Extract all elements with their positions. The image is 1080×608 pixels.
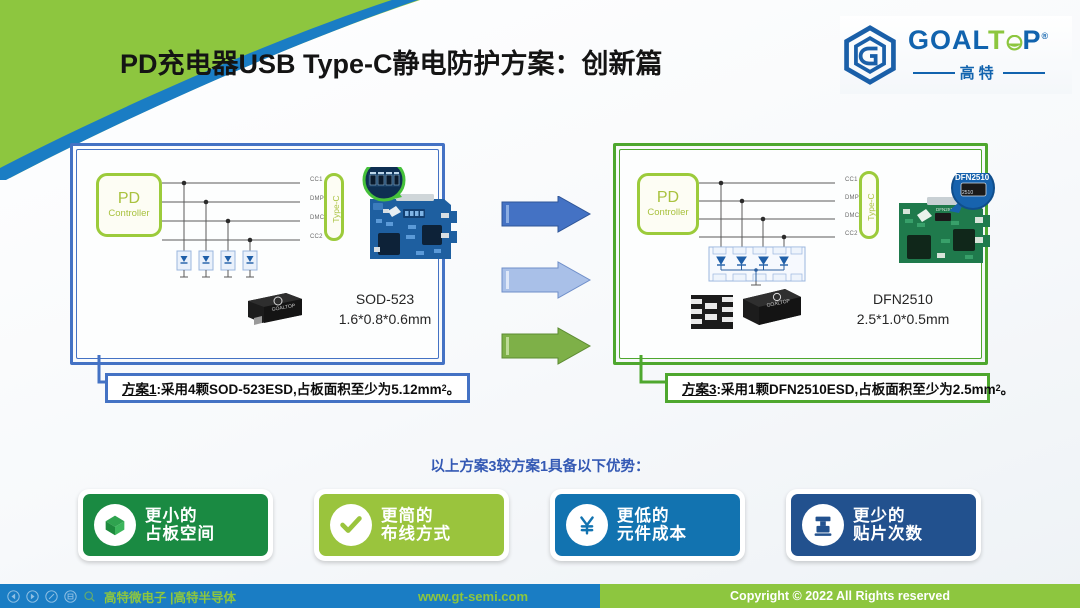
pcb-photo-green: DFN2510 2510 DFN2510 — [891, 173, 1001, 273]
prev-icon[interactable] — [7, 590, 20, 603]
solution-1-panel: PD Controller — [70, 143, 445, 365]
grid-icon[interactable] — [64, 590, 77, 603]
caption-suffix-right: 。 — [1001, 378, 1015, 398]
solution-3-caption: 方案3:采用1颗DFN2510ESD,占板面积至少为2.5mm2。 — [665, 373, 990, 403]
caption-body-right: :采用1颗DFN2510ESD,占板面积至少为2.5mm — [717, 378, 996, 398]
advantage-line-2: 贴片次数 — [853, 525, 923, 543]
pd-controller-subtitle: Controller — [647, 208, 688, 219]
pd-controller-title: PD — [118, 190, 140, 208]
schematic-wiring-left — [162, 169, 322, 279]
net-label-dmp-right: DMP — [845, 195, 859, 201]
logo-rule-right — [1003, 72, 1045, 74]
yuan-icon — [566, 504, 608, 546]
pd-controller-title: PD — [657, 189, 679, 207]
type-c-label: Type-C — [866, 184, 876, 230]
type-c-label: Type-C — [331, 186, 341, 232]
caption-prefix-left: 方案1 — [122, 378, 157, 398]
advantage-card-text: 更少的 贴片次数 — [853, 507, 923, 544]
advantage-card-fewer-smt[interactable]: 更少的 贴片次数 — [786, 489, 981, 561]
advantage-line-2: 元件成本 — [617, 525, 687, 543]
advantage-line-1: 更小的 — [145, 507, 215, 525]
play-icon[interactable] — [26, 590, 39, 603]
footer-bar: 高特微电子 |高特半导体 www.gt-semi.com Copyright ©… — [0, 584, 1080, 608]
logo-wordmark: GOALT P® — [908, 27, 1049, 57]
transition-arrows — [498, 196, 598, 376]
advantages-heading: 以上方案3较方案1具备以下优势： — [0, 455, 1080, 476]
advantage-card-lower-cost[interactable]: 更低的 元件成本 — [550, 489, 745, 561]
logo-registered-mark: ® — [1042, 31, 1050, 41]
advantage-line-1: 更低的 — [617, 507, 687, 525]
net-label-cc1-right: CC1 — [845, 177, 858, 183]
package-dimensions-right: 2.5*1.0*0.5mm — [838, 311, 968, 327]
pen-icon[interactable] — [45, 590, 58, 603]
solution-3-panel: PD Controller — [613, 143, 988, 365]
footer-brand-text: 高特微电子 |高特半导体 — [104, 587, 236, 606]
advantage-line-1: 更简的 — [381, 507, 451, 525]
logo-swoosh-icon — [1006, 30, 1023, 57]
net-label-cc2-right: CC2 — [845, 231, 858, 237]
logo-word-goal: GOAL — [908, 25, 988, 55]
solution-1-caption: 方案1:采用4颗SOD-523ESD,占板面积至少为5.12mm2。 — [105, 373, 470, 403]
advantage-card-smaller-footprint[interactable]: 更小的 占板空间 — [78, 489, 273, 561]
advantage-card-text: 更简的 布线方式 — [381, 507, 451, 544]
package-dimensions-left: 1.6*0.8*0.6mm — [325, 311, 445, 327]
advantage-cards: 更小的 占板空间 更简的 布线方式 — [78, 489, 1008, 569]
advantage-card-text: 更低的 元件成本 — [617, 507, 687, 544]
svg-text:2510: 2510 — [962, 190, 973, 196]
smt-machine-icon — [802, 504, 844, 546]
footer-copyright: Copyright © 2022 All Rights reserved — [600, 584, 1080, 608]
arrow-transition-2 — [502, 262, 590, 298]
pd-controller-subtitle: Controller — [108, 209, 149, 220]
advantage-line-2: 布线方式 — [381, 525, 451, 543]
advantage-card-text: 更小的 占板空间 — [145, 507, 215, 544]
package-name-right: DFN2510 — [838, 291, 968, 307]
package-photo-sod523: GOALTOP — [240, 285, 308, 331]
net-label-cc2-left: CC2 — [310, 234, 323, 240]
type-c-connector-right: Type-C — [859, 171, 879, 239]
advantage-line-1: 更少的 — [853, 507, 923, 525]
pd-controller-block-right: PD Controller — [637, 173, 699, 235]
brand-logo: GOALT P® 高特 — [840, 16, 1072, 94]
pd-controller-block-left: PD Controller — [96, 173, 162, 237]
net-label-dmc-right: DMC — [845, 213, 859, 219]
logo-rule-left — [913, 72, 955, 74]
caption-prefix-right: 方案3 — [682, 378, 717, 398]
advantage-card-simpler-routing[interactable]: 更简的 布线方式 — [314, 489, 509, 561]
logo-word-t: T — [988, 25, 1006, 55]
type-c-connector-left: Type-C — [324, 173, 344, 241]
logo-word-p: P — [1023, 25, 1042, 55]
package-photo-dfn2510: GOALTOP — [685, 283, 805, 335]
svg-text:DFN2510: DFN2510 — [955, 173, 990, 182]
advantage-line-2: 占板空间 — [145, 525, 215, 543]
zoom-icon[interactable] — [83, 590, 96, 603]
page-title: PD充电器USB Type-C静电防护方案：创新篇 — [120, 42, 820, 81]
logo-chinese-row: 高特 — [913, 62, 1045, 83]
schematic-wiring-right — [699, 169, 859, 287]
arrow-transition-3 — [502, 328, 590, 364]
slide-canvas: PD充电器USB Type-C静电防护方案：创新篇 GOALT P® 高特 — [0, 0, 1080, 608]
net-label-dmp-left: DMP — [310, 196, 324, 202]
footer-website-url[interactable]: www.gt-semi.com — [418, 584, 528, 608]
caption-body-left: :采用4颗SOD-523ESD,占板面积至少为5.12mm — [157, 378, 442, 398]
logo-chinese-name: 高特 — [960, 62, 998, 83]
net-label-dmc-left: DMC — [310, 215, 324, 221]
net-label-cc1-left: CC1 — [310, 177, 323, 183]
pcb-photo-blue — [356, 167, 466, 272]
goaltop-hexagon-logo-icon — [840, 25, 900, 85]
arrow-transition-1 — [502, 196, 590, 232]
check-circle-icon — [330, 504, 372, 546]
caption-suffix-left: 。 — [447, 378, 461, 398]
cube-icon — [94, 504, 136, 546]
package-name-left: SOD-523 — [325, 291, 445, 307]
